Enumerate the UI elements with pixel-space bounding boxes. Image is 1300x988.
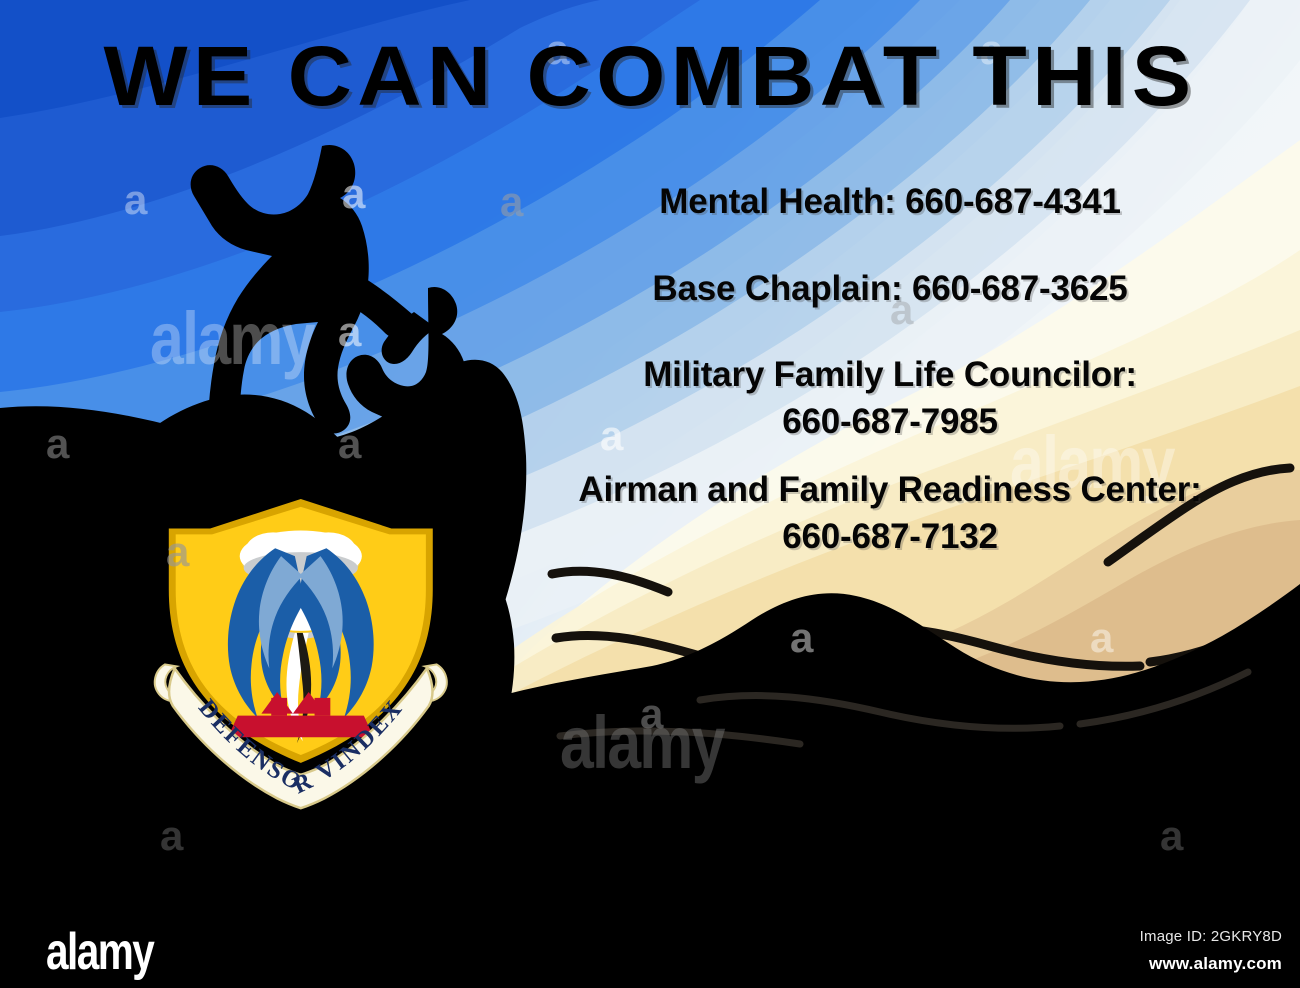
contact-mental-health: Mental Health: 660-687-4341: [540, 182, 1240, 223]
alamy-footer-bar: alamy Image ID: 2GKRY8D www.alamy.com: [0, 916, 1300, 988]
alamy-website-label[interactable]: www.alamy.com: [1149, 954, 1282, 974]
contact-mflc-number: 660-687-7985: [540, 402, 1240, 443]
contact-mflc-label: Military Family Life Councilor:: [540, 355, 1240, 396]
contact-list: Mental Health: 660-687-4341 Base Chaplai…: [540, 182, 1240, 558]
alamy-logo: alamy: [46, 926, 153, 978]
image-id-label: Image ID: 2GKRY8D: [1140, 928, 1282, 945]
contact-afrc-label: Airman and Family Readiness Center:: [540, 470, 1240, 511]
contact-afrc-number: 660-687-7132: [540, 517, 1240, 558]
poster-root: DEFENSOR VINDEX a a a a a a a a a a a a …: [0, 0, 1300, 988]
poster-artwork: DEFENSOR VINDEX a a a a a a a a a a a a …: [0, 0, 1300, 916]
contact-base-chaplain: Base Chaplain: 660-687-3625: [540, 269, 1240, 310]
